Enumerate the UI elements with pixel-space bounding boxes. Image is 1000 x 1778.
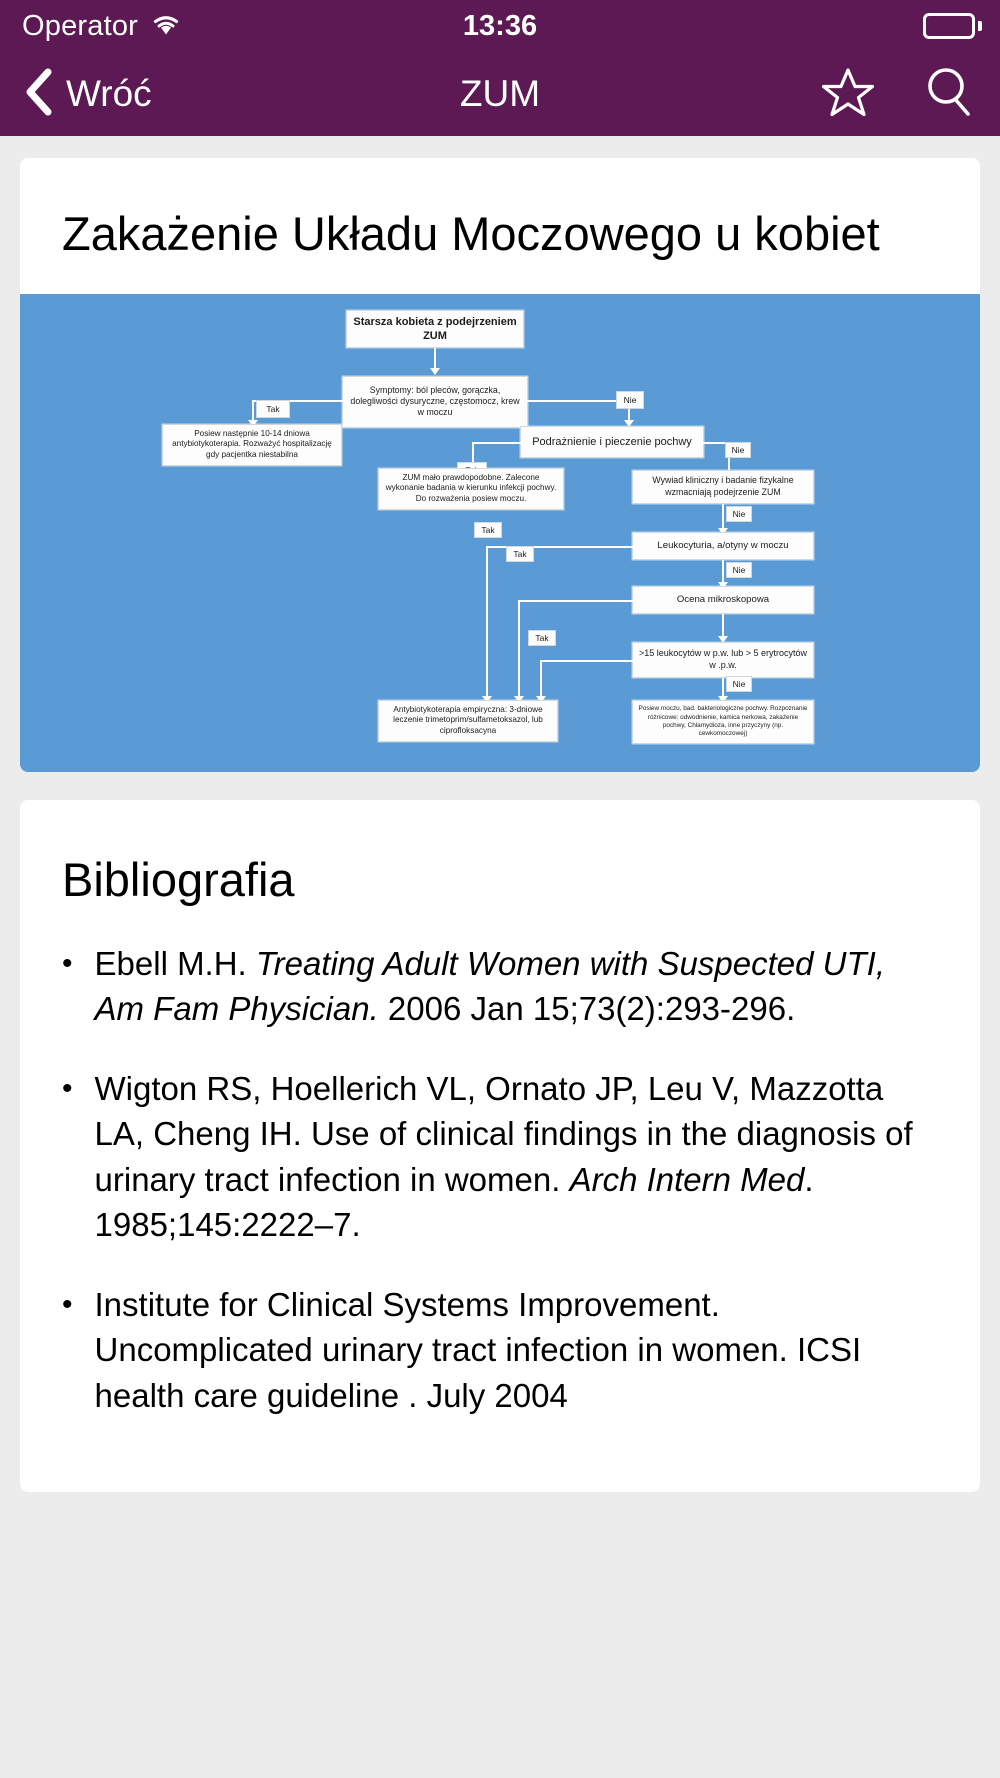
- flowchart-label-l2: Nie: [616, 391, 644, 409]
- flowchart-label-l1: Tak: [256, 400, 290, 418]
- flowchart-node-n5: ZUM mało prawdopodobne. Zalecone wykonan…: [378, 468, 564, 510]
- wifi-icon: [150, 11, 182, 42]
- flowchart-label-l10: Nie: [726, 676, 752, 692]
- bibliography-card: Bibliografia • Ebell M.H. Treating Adult…: [20, 800, 980, 1493]
- battery-full-icon: [923, 13, 975, 39]
- chevron-left-icon: [24, 68, 52, 121]
- bibliography-reference: Ebell M.H. Treating Adult Women with Sus…: [95, 941, 938, 1032]
- flowchart-edge: [434, 348, 436, 370]
- flowchart-label-l8: Nie: [726, 562, 752, 578]
- article-title-wrap: Zakażenie Układu Moczowego u kobiet: [20, 158, 980, 294]
- battery-cap: [978, 21, 982, 31]
- navigation-bar: Wróć ZUM: [0, 52, 1000, 136]
- flowchart-label-l5: Tak: [474, 522, 502, 538]
- flowchart-edge: [486, 546, 488, 698]
- list-item: • Wigton RS, Hoellerich VL, Ornato JP, L…: [62, 1066, 938, 1248]
- bibliography-heading: Bibliografia: [20, 800, 980, 941]
- status-bar-left: Operator: [22, 10, 182, 43]
- back-button-label: Wróć: [66, 73, 152, 115]
- flowchart-node-n6: Wywiad kliniczny i badanie fizykalne wzm…: [632, 470, 814, 504]
- flowchart-label-l6: Nie: [726, 506, 752, 522]
- scroll-content[interactable]: Zakażenie Układu Moczowego u kobiet Star…: [0, 136, 1000, 1778]
- article-title: Zakażenie Układu Moczowego u kobiet: [62, 204, 938, 264]
- bullet-icon: •: [62, 1282, 73, 1419]
- flowchart-label-l7: Tak: [506, 546, 534, 562]
- back-button[interactable]: Wróć: [24, 68, 152, 121]
- flowchart-node-n7: Leukocyturia, a/otyny w moczu: [632, 532, 814, 560]
- bullet-icon: •: [62, 1066, 73, 1248]
- flowchart-node-n3: Posiew następnie 10-14 dniowa antybiotyk…: [162, 424, 342, 466]
- battery-indicator: [923, 13, 982, 39]
- list-item: • Ebell M.H. Treating Adult Women with S…: [62, 941, 938, 1032]
- flowchart-label-l9: Tak: [528, 630, 556, 646]
- flowchart-edge: [252, 400, 254, 422]
- flowchart-node-n1: Starsza kobieta z podejrzeniem ZUM: [346, 310, 524, 348]
- list-item: • Institute for Clinical Systems Improve…: [62, 1282, 938, 1419]
- flowchart-label-l4: Nie: [725, 442, 751, 458]
- flowchart-arrow: [430, 368, 440, 375]
- search-icon[interactable]: [924, 66, 974, 123]
- flowchart-edge: [526, 400, 630, 402]
- flowchart-edge: [518, 600, 634, 602]
- bibliography-reference: Wigton RS, Hoellerich VL, Ornato JP, Leu…: [95, 1066, 938, 1248]
- flowchart-edge: [540, 660, 634, 662]
- flowchart-node-n4: Podrażnienie i pieczenie pochwy: [520, 426, 704, 458]
- flowchart-node-n11: Posiew moczu, bad. bakteriologiczne poch…: [632, 700, 814, 744]
- flowchart-edge: [472, 442, 522, 444]
- bibliography-reference: Institute for Clinical Systems Improveme…: [95, 1282, 938, 1419]
- status-bar: Operator 13:36: [0, 0, 1000, 52]
- nav-actions: [822, 66, 974, 123]
- flowchart-image[interactable]: Starsza kobieta z podejrzeniem ZUM Sympt…: [20, 294, 980, 772]
- flowchart-edge: [540, 660, 542, 698]
- star-outline-icon[interactable]: [822, 67, 874, 122]
- flowchart-canvas: Starsza kobieta z podejrzeniem ZUM Sympt…: [20, 294, 980, 772]
- bibliography-list: • Ebell M.H. Treating Adult Women with S…: [20, 941, 980, 1493]
- flowchart-node-n10: Antybiotykoterapia empiryczna: 3-dniowe …: [378, 700, 558, 742]
- flowchart-node-n2: Symptomy: ból pleców, gorączka, dolegliw…: [342, 376, 528, 428]
- article-card: Zakażenie Układu Moczowego u kobiet Star…: [20, 158, 980, 772]
- flowchart-node-n8: Ocena mikroskopowa: [632, 586, 814, 614]
- bullet-icon: •: [62, 941, 73, 1032]
- flowchart-edge: [518, 600, 520, 698]
- carrier-label: Operator: [22, 10, 138, 43]
- flowchart-node-n9: >15 leukocytów w p.w. lub > 5 erytrocytó…: [632, 642, 814, 678]
